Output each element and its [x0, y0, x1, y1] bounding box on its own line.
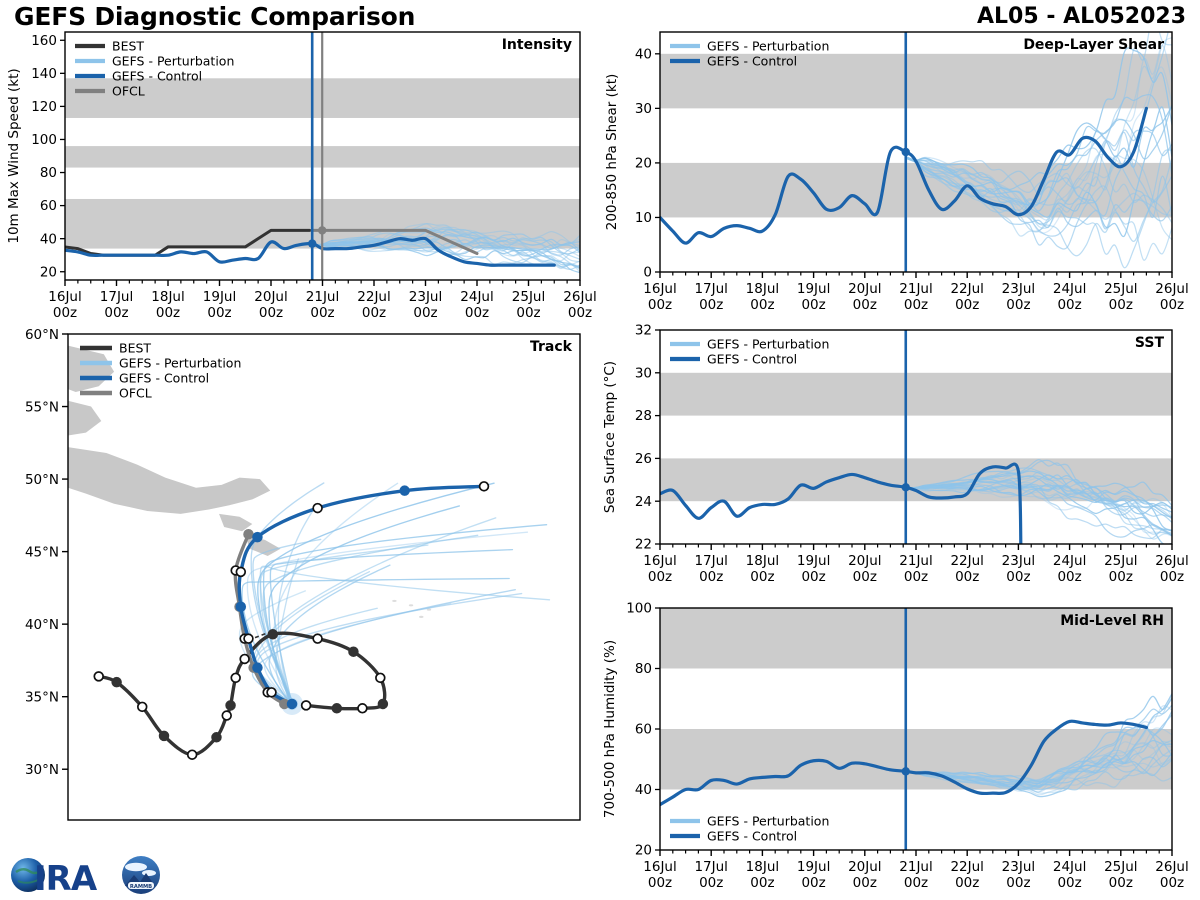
x-tick-label: 18Jul [746, 859, 779, 875]
x-tick-sublabel: 00z [955, 297, 979, 313]
legend-label: GEFS - Perturbation [707, 813, 829, 828]
track-point-open [358, 704, 367, 713]
x-tick-sublabel: 00z [750, 297, 774, 313]
x-tick-label: 26Jul [563, 289, 596, 305]
x-tick-sublabel: 00z [801, 875, 825, 891]
sst-chart: 22242628303216Jul00z17Jul00z18Jul00z19Ju… [600, 322, 1200, 600]
y-tick-label: 60 [40, 198, 57, 214]
x-tick-sublabel: 00z [1160, 569, 1184, 585]
panel-shear: 01020304016Jul00z17Jul00z18Jul00z19Jul00… [600, 20, 1200, 320]
y-tick-label: 80 [40, 165, 57, 181]
track-point-filled [268, 630, 277, 639]
track-point-filled [112, 678, 121, 687]
y-tick-label: 40 [635, 46, 652, 62]
x-tick-label: 22Jul [950, 281, 983, 297]
intensity-chart: 2040608010012014016016Jul00z17Jul00z18Ju… [0, 20, 600, 330]
x-tick-sublabel: 00z [904, 297, 928, 313]
panel-title: Deep-Layer Shear [1023, 37, 1164, 53]
panel-rh: 2040608010016Jul00z17Jul00z18Jul00z19Jul… [600, 600, 1200, 898]
track-point-open [267, 688, 276, 697]
rh-chart: 2040608010016Jul00z17Jul00z18Jul00z19Jul… [600, 600, 1200, 898]
x-tick-label: 19Jul [797, 859, 830, 875]
lat-tick-label: 55°N [25, 399, 59, 415]
legend-label: GEFS - Perturbation [119, 356, 241, 371]
y-tick-label: 40 [40, 231, 57, 247]
legend-label: GEFS - Perturbation [707, 336, 829, 351]
x-tick-sublabel: 00z [699, 297, 723, 313]
x-tick-label: 24Jul [460, 289, 493, 305]
panel-intensity: 2040608010012014016016Jul00z17Jul00z18Ju… [0, 20, 600, 330]
track-point-open [302, 701, 311, 710]
y-axis-label: 700-500 hPa Humidity (%) [602, 640, 618, 818]
x-tick-sublabel: 00z [801, 569, 825, 585]
x-tick-label: 23Jul [1002, 281, 1035, 297]
track-point-open [376, 673, 385, 682]
track-point-open [313, 504, 322, 513]
legend-label: GEFS - Perturbation [112, 53, 234, 68]
y-tick-label: 0 [643, 265, 652, 281]
legend-label: BEST [112, 38, 144, 53]
track-point-open [138, 702, 147, 711]
x-tick-label: 21Jul [899, 859, 932, 875]
x-tick-sublabel: 00z [568, 305, 592, 321]
y-tick-label: 100 [626, 601, 652, 617]
y-tick-label: 160 [31, 33, 57, 49]
legend-label: BEST [119, 341, 151, 356]
x-tick-sublabel: 00z [1160, 875, 1184, 891]
legend-label: GEFS - Control [707, 828, 797, 843]
track-point-open [188, 750, 197, 759]
y-tick-label: 20 [635, 843, 652, 859]
track-point-filled [288, 700, 297, 709]
x-tick-sublabel: 00z [207, 305, 231, 321]
y-tick-label: 40 [635, 782, 652, 798]
track-point-filled [378, 700, 387, 709]
track-point-open [94, 672, 103, 681]
track-point-open [240, 655, 249, 664]
track-point-filled [253, 663, 262, 672]
x-tick-label: 17Jul [694, 859, 727, 875]
y-tick-label: 120 [31, 99, 57, 115]
x-tick-sublabel: 00z [1006, 569, 1030, 585]
lat-tick-label: 45°N [25, 544, 59, 560]
x-tick-label: 19Jul [797, 281, 830, 297]
y-tick-label: 30 [635, 101, 652, 117]
x-tick-sublabel: 00z [516, 305, 540, 321]
legend-label: GEFS - Perturbation [707, 38, 829, 53]
track-point-filled [349, 647, 358, 656]
analysis-marker [308, 239, 316, 247]
x-tick-label: 20Jul [848, 281, 881, 297]
track-point-filled [332, 704, 341, 713]
track-point-open [222, 711, 231, 720]
x-tick-sublabel: 00z [1109, 875, 1133, 891]
y-tick-label: 140 [31, 66, 57, 82]
y-tick-label: 20 [635, 156, 652, 172]
x-tick-label: 22Jul [950, 553, 983, 569]
x-tick-sublabel: 00z [1057, 875, 1081, 891]
figure-root: GEFS Diagnostic Comparison AL05 - AL0520… [0, 0, 1200, 900]
x-tick-sublabel: 00z [413, 305, 437, 321]
x-tick-sublabel: 00z [1006, 297, 1030, 313]
y-tick-label: 10 [635, 210, 652, 226]
x-tick-sublabel: 00z [699, 569, 723, 585]
x-tick-label: 20Jul [848, 859, 881, 875]
cira-logo: IRA RAMMB [8, 852, 198, 898]
y-tick-label: 30 [635, 365, 652, 381]
x-tick-sublabel: 00z [750, 569, 774, 585]
lat-tick-label: 30°N [25, 762, 59, 778]
x-tick-sublabel: 00z [53, 305, 77, 321]
x-tick-sublabel: 00z [362, 305, 386, 321]
y-tick-label: 80 [635, 661, 652, 677]
x-tick-label: 21Jul [306, 289, 339, 305]
x-tick-sublabel: 00z [699, 875, 723, 891]
y-tick-label: 26 [635, 451, 652, 467]
x-tick-label: 26Jul [1155, 281, 1188, 297]
x-tick-sublabel: 00z [648, 875, 672, 891]
track-point-filled [212, 733, 221, 742]
y-tick-label: 22 [635, 537, 652, 553]
x-tick-label: 19Jul [797, 553, 830, 569]
x-tick-sublabel: 00z [310, 305, 334, 321]
legend-label: GEFS - Control [112, 68, 202, 83]
x-tick-sublabel: 00z [955, 875, 979, 891]
x-tick-sublabel: 00z [1057, 569, 1081, 585]
track-point-open [231, 673, 240, 682]
x-tick-sublabel: 00z [648, 297, 672, 313]
track-point-filled [244, 530, 253, 539]
x-tick-label: 18Jul [746, 281, 779, 297]
x-tick-label: 16Jul [48, 289, 81, 305]
x-tick-sublabel: 00z [801, 297, 825, 313]
legend-label: GEFS - Control [707, 53, 797, 68]
x-tick-label: 23Jul [1002, 859, 1035, 875]
x-tick-label: 22Jul [950, 859, 983, 875]
x-tick-label: 25Jul [1104, 859, 1137, 875]
svg-text:IRA: IRA [34, 859, 98, 898]
legend-label: OFCL [112, 83, 145, 98]
legend-label: GEFS - Control [707, 351, 797, 366]
x-tick-label: 16Jul [643, 553, 676, 569]
panel-title: Intensity [502, 37, 572, 53]
x-tick-label: 20Jul [848, 553, 881, 569]
x-tick-label: 24Jul [1053, 859, 1086, 875]
x-tick-sublabel: 00z [750, 875, 774, 891]
panel-sst: 22242628303216Jul00z17Jul00z18Jul00z19Ju… [600, 322, 1200, 600]
analysis-marker [902, 483, 910, 491]
y-tick-label: 100 [31, 132, 57, 148]
x-tick-sublabel: 00z [104, 305, 128, 321]
track-point-open [244, 634, 253, 643]
x-tick-sublabel: 00z [904, 875, 928, 891]
x-tick-label: 17Jul [100, 289, 133, 305]
x-tick-sublabel: 00z [156, 305, 180, 321]
x-tick-sublabel: 00z [853, 875, 877, 891]
track-point-open [236, 568, 245, 577]
track-point-filled [226, 701, 235, 710]
lat-tick-label: 35°N [25, 689, 59, 705]
x-tick-sublabel: 00z [465, 305, 489, 321]
analysis-marker [318, 226, 326, 234]
x-tick-label: 24Jul [1053, 281, 1086, 297]
x-tick-label: 16Jul [643, 859, 676, 875]
lat-tick-label: 50°N [25, 472, 59, 488]
x-tick-label: 18Jul [746, 553, 779, 569]
track-point-filled [400, 486, 409, 495]
y-tick-label: 24 [635, 494, 652, 510]
x-tick-label: 17Jul [694, 553, 727, 569]
x-tick-sublabel: 00z [259, 305, 283, 321]
track-point-open [480, 482, 489, 491]
x-tick-label: 23Jul [1002, 553, 1035, 569]
x-tick-label: 26Jul [1155, 553, 1188, 569]
x-tick-label: 25Jul [512, 289, 545, 305]
panel-title: Mid-Level RH [1060, 613, 1164, 629]
x-tick-label: 22Jul [357, 289, 390, 305]
track-point-open [313, 634, 322, 643]
island-speck [419, 616, 423, 618]
island-speck [409, 604, 413, 606]
x-tick-label: 18Jul [151, 289, 184, 305]
y-axis-label: 10m Max Wind Speed (kt) [6, 68, 22, 243]
lat-tick-label: 40°N [25, 617, 59, 633]
panel-title: SST [1135, 335, 1165, 351]
track-point-filled [236, 602, 245, 611]
x-tick-label: 25Jul [1104, 553, 1137, 569]
x-tick-label: 16Jul [643, 281, 676, 297]
x-tick-label: 21Jul [899, 553, 932, 569]
x-tick-label: 19Jul [203, 289, 236, 305]
y-tick-label: 28 [635, 408, 652, 424]
x-tick-sublabel: 00z [1160, 297, 1184, 313]
x-tick-label: 24Jul [1053, 553, 1086, 569]
x-tick-label: 26Jul [1155, 859, 1188, 875]
x-tick-label: 20Jul [254, 289, 287, 305]
x-tick-sublabel: 00z [1057, 297, 1081, 313]
x-tick-label: 25Jul [1104, 281, 1137, 297]
track-point-filled [160, 731, 169, 740]
x-tick-sublabel: 00z [1109, 297, 1133, 313]
island-speck [392, 600, 396, 602]
svg-text:RAMMB: RAMMB [130, 884, 152, 890]
x-tick-sublabel: 00z [853, 569, 877, 585]
x-tick-label: 21Jul [899, 281, 932, 297]
track-chart: 30°N35°N40°N45°N50°N55°N60°NTrackBESTGEF… [0, 325, 600, 845]
x-tick-sublabel: 00z [955, 569, 979, 585]
y-tick-label: 20 [40, 264, 57, 280]
analysis-marker [902, 148, 910, 156]
legend-label: GEFS - Control [119, 371, 209, 386]
track-point-filled [253, 533, 262, 542]
analysis-marker [902, 767, 910, 775]
panel-track: 30°N35°N40°N45°N50°N55°N60°NTrackBESTGEF… [0, 325, 600, 845]
x-tick-sublabel: 00z [904, 569, 928, 585]
x-tick-sublabel: 00z [1006, 875, 1030, 891]
y-tick-label: 32 [635, 323, 652, 339]
x-tick-sublabel: 00z [648, 569, 672, 585]
y-axis-label: Sea Surface Temp (°C) [602, 361, 618, 513]
x-tick-label: 23Jul [409, 289, 442, 305]
shear-chart: 01020304016Jul00z17Jul00z18Jul00z19Jul00… [600, 20, 1200, 320]
legend-label: OFCL [119, 386, 152, 401]
x-tick-sublabel: 00z [853, 297, 877, 313]
lat-tick-label: 60°N [25, 327, 59, 343]
panel-title: Track [530, 339, 573, 355]
x-tick-sublabel: 00z [1109, 569, 1133, 585]
y-axis-label: 200-850 hPa Shear (kt) [604, 74, 620, 231]
x-tick-label: 17Jul [694, 281, 727, 297]
y-tick-label: 60 [635, 722, 652, 738]
